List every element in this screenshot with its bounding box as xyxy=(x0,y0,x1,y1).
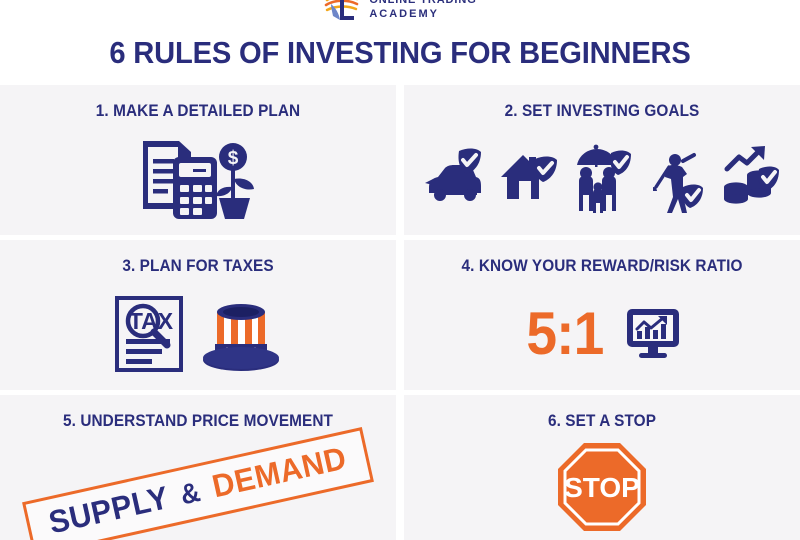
infographic-page: ONLINE TRADING ACADEMY 6 RULES OF INVEST… xyxy=(0,0,800,530)
family-umbrella-check-icon xyxy=(571,143,633,215)
house-check-icon xyxy=(497,143,559,215)
stop-sign-icon: STOP xyxy=(556,441,648,533)
online-trading-academy-logo-icon xyxy=(323,0,363,26)
rule-card-5: 5. UNDERSTAND PRICE MOVEMENT SUPPLY & DE… xyxy=(0,395,396,540)
rule-card-1-illustration: $ xyxy=(0,127,396,231)
ratio-value: 5:1 xyxy=(526,304,603,364)
stop-sign-label: STOP xyxy=(564,472,640,503)
investing-goals-row xyxy=(423,143,781,215)
rule-card-3-illustration: TAX xyxy=(0,282,396,386)
rule-card-4-illustration: 5:1 xyxy=(404,282,800,386)
plan-document-calculator-money-plant-icon: $ xyxy=(133,135,263,223)
rule-card-6-illustration: STOP xyxy=(404,437,800,536)
brand-logo-text: ONLINE TRADING ACADEMY xyxy=(369,0,476,20)
rule-card-1-title: 1. MAKE A DETAILED PLAN xyxy=(14,102,382,121)
rule-card-6-title: 6. SET A STOP xyxy=(418,412,786,431)
rule-card-1: 1. MAKE A DETAILED PLAN xyxy=(0,85,396,235)
supply-demand-stamp: SUPPLY & DEMAND xyxy=(22,426,374,540)
svg-text:$: $ xyxy=(228,148,239,169)
rule-card-2-title: 2. SET INVESTING GOALS xyxy=(418,102,786,121)
rule-card-6: 6. SET A STOP STOP xyxy=(404,395,800,540)
brand-logo-bar: ONLINE TRADING ACADEMY xyxy=(0,0,800,26)
rule-card-5-title: 5. UNDERSTAND PRICE MOVEMENT xyxy=(14,412,382,431)
uncle-sam-hat-icon xyxy=(199,294,283,374)
brand-line-2: ACADEMY xyxy=(369,9,476,20)
stamp-word-supply: SUPPLY xyxy=(46,480,172,538)
page-title: 6 RULES OF INVESTING FOR BEGINNERS xyxy=(24,36,776,70)
rule-card-2: 2. SET INVESTING GOALS xyxy=(404,85,800,235)
tax-document-magnifier-icon: TAX xyxy=(113,295,185,373)
brand-logo: ONLINE TRADING ACADEMY xyxy=(323,0,476,26)
rule-card-2-illustration xyxy=(404,127,800,231)
rule-card-4: 4. KNOW YOUR REWARD/RISK RATIO 5:1 xyxy=(404,240,800,390)
reward-risk-ratio-row: 5:1 xyxy=(523,304,681,364)
rule-card-5-illustration: SUPPLY & DEMAND xyxy=(0,437,396,536)
car-check-icon xyxy=(423,143,485,215)
rule-card-4-title: 4. KNOW YOUR REWARD/RISK RATIO xyxy=(418,257,786,276)
monitor-chart-icon xyxy=(625,307,681,361)
rule-card-3-title: 3. PLAN FOR TAXES xyxy=(14,257,382,276)
stamp-word-demand: DEMAND xyxy=(209,441,349,502)
stamp-ampersand: & xyxy=(177,475,203,511)
golfer-check-icon xyxy=(645,143,707,215)
coins-growth-check-icon xyxy=(719,143,781,215)
rule-card-3: 3. PLAN FOR TAXES TAX xyxy=(0,240,396,390)
rules-grid: 1. MAKE A DETAILED PLAN xyxy=(0,85,800,530)
taxes-icon-row: TAX xyxy=(113,294,283,374)
brand-line-1: ONLINE TRADING xyxy=(369,0,476,6)
